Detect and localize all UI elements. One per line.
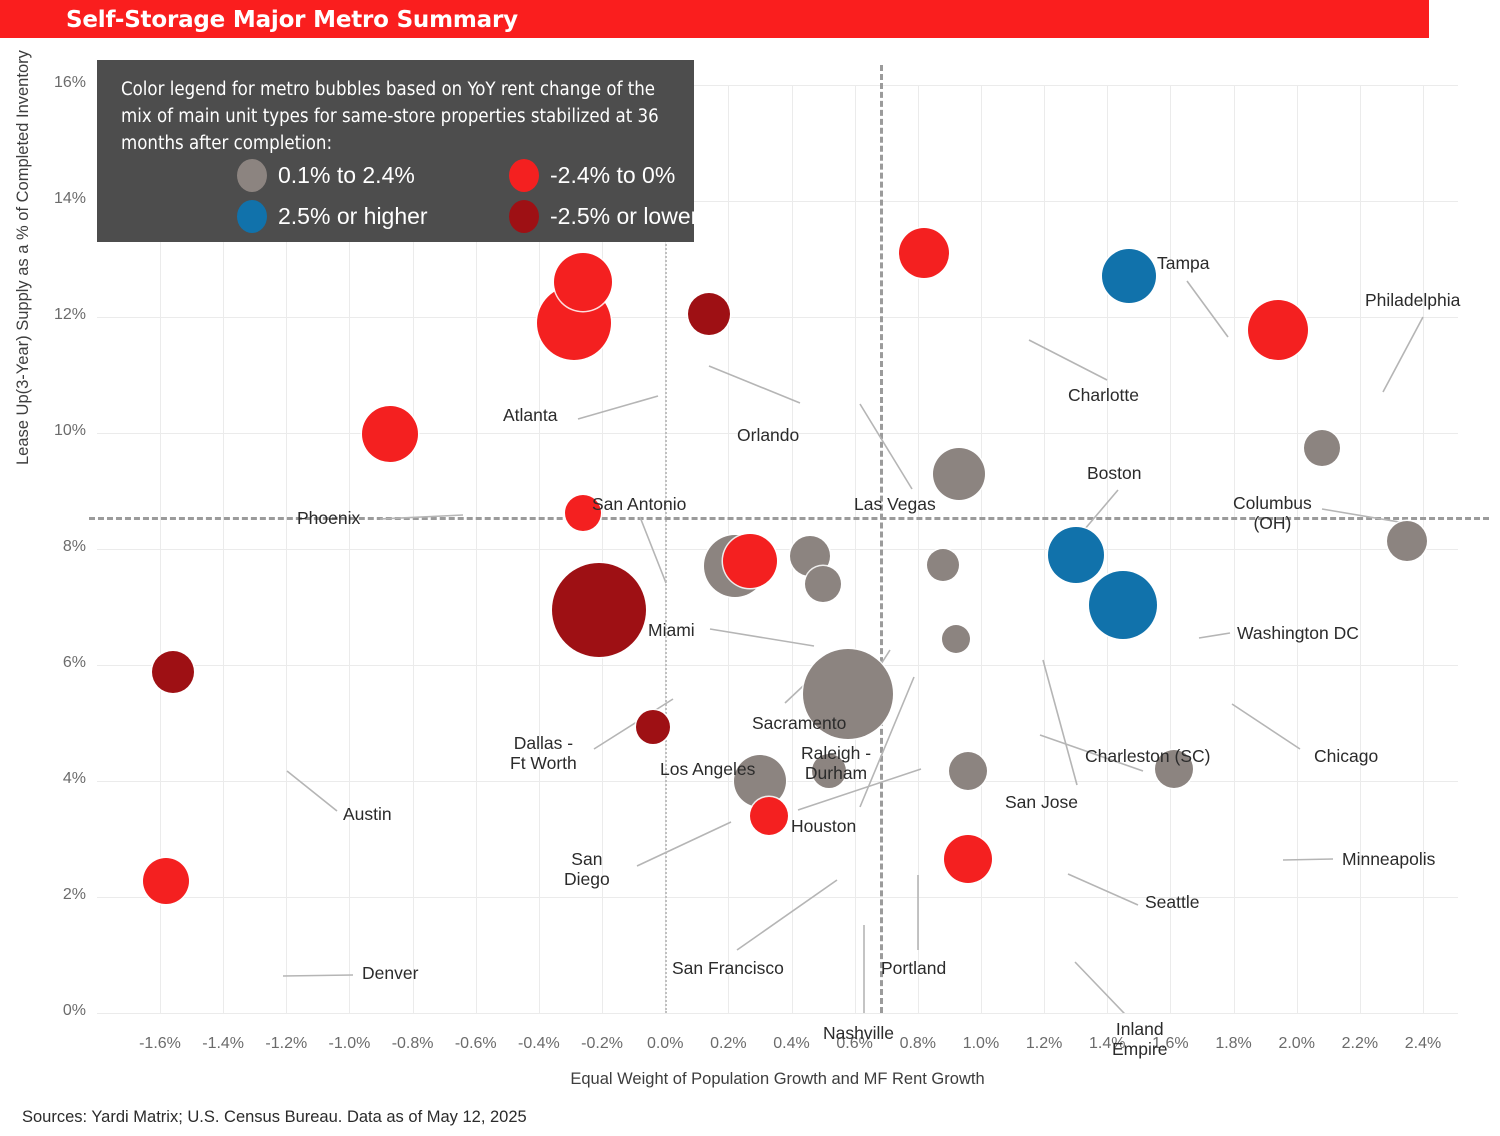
- y-axis-tick: 6%: [0, 654, 86, 672]
- legend-item-0: 0.1% to 2.4%: [237, 159, 415, 192]
- leader-line: [710, 629, 814, 646]
- leader-line: [1232, 704, 1300, 749]
- legend-item-2: 2.5% or higher: [237, 200, 428, 233]
- metro-bubble[interactable]: [805, 566, 841, 602]
- metro-label: Nashville: [823, 1023, 894, 1043]
- metro-bubble[interactable]: [362, 406, 418, 462]
- legend-swatch-grey: [237, 159, 267, 192]
- legend-label-0: 0.1% to 2.4%: [278, 162, 415, 189]
- metro-label: Atlanta: [503, 405, 557, 425]
- metro-label: Los Angeles: [660, 759, 755, 779]
- metro-label: Washington DC: [1237, 623, 1359, 643]
- leader-line: [709, 366, 800, 403]
- legend-description: Color legend for metro bubbles based on …: [121, 76, 681, 158]
- metro-label: Charlotte: [1068, 385, 1139, 405]
- x-axis-label: Equal Weight of Population Growth and MF…: [97, 1070, 1458, 1089]
- metro-bubble[interactable]: [636, 710, 670, 744]
- metro-bubble[interactable]: [1089, 571, 1157, 639]
- metro-label: Denver: [362, 963, 418, 983]
- metro-bubble[interactable]: [143, 858, 189, 904]
- metro-label: Orlando: [737, 425, 799, 445]
- leader-line: [283, 975, 353, 976]
- metro-label: Philadelphia: [1365, 290, 1460, 310]
- y-axis-tick: 2%: [0, 886, 86, 904]
- leader-line: [1029, 340, 1107, 380]
- metro-bubble[interactable]: [1387, 521, 1427, 561]
- metro-label: Seattle: [1145, 892, 1199, 912]
- metro-label: San Diego: [564, 849, 610, 890]
- legend-item-1: -2.4% to 0%: [509, 159, 675, 192]
- gridline-horizontal: [97, 549, 1458, 550]
- leader-line: [1043, 660, 1077, 785]
- metro-bubble[interactable]: [944, 835, 992, 883]
- metro-bubble[interactable]: [942, 625, 970, 653]
- y-axis-tick: 16%: [0, 74, 86, 92]
- leader-line: [860, 404, 912, 489]
- metro-label: Chicago: [1314, 746, 1378, 766]
- metro-label: Minneapolis: [1342, 849, 1435, 869]
- metro-label: Las Vegas: [854, 494, 936, 514]
- metro-label: Boston: [1087, 463, 1141, 483]
- gridline-horizontal: [97, 1013, 1458, 1014]
- page-title: Self-Storage Major Metro Summary: [66, 7, 518, 33]
- metro-label: Houston: [791, 816, 856, 836]
- y-axis-tick: 12%: [0, 306, 86, 324]
- metro-bubble[interactable]: [1248, 300, 1308, 360]
- leader-line: [637, 822, 731, 866]
- y-axis-tick: 0%: [0, 1002, 86, 1020]
- metro-label: Charleston (SC): [1085, 746, 1210, 766]
- metro-bubble[interactable]: [723, 534, 777, 588]
- metro-bubble[interactable]: [688, 293, 730, 335]
- legend-swatch-blue: [237, 200, 267, 233]
- metro-label: Miami: [648, 620, 695, 640]
- y-axis-label: Lease Up(3-Year) Supply as a % of Comple…: [14, 50, 33, 465]
- metro-label: Austin: [343, 804, 392, 824]
- metro-label: Portland: [881, 958, 946, 978]
- legend-item-3: -2.5% or lower: [509, 200, 698, 233]
- gridline-horizontal: [97, 897, 1458, 898]
- leader-line: [1187, 281, 1228, 337]
- metro-bubble[interactable]: [949, 752, 987, 790]
- title-bar: Self-Storage Major Metro Summary: [0, 0, 1429, 38]
- metro-label: San Jose: [1005, 792, 1078, 812]
- color-legend: Color legend for metro bubbles based on …: [97, 60, 694, 242]
- legend-label-2: 2.5% or higher: [278, 203, 428, 230]
- legend-label-3: -2.5% or lower: [550, 203, 698, 230]
- leader-line: [578, 396, 658, 419]
- metro-bubble[interactable]: [552, 563, 646, 657]
- metro-bubble[interactable]: [1048, 527, 1104, 583]
- metro-bubble[interactable]: [933, 448, 985, 500]
- metro-bubble[interactable]: [750, 797, 788, 835]
- legend-label-1: -2.4% to 0%: [550, 162, 675, 189]
- metro-label: Tampa: [1157, 253, 1210, 273]
- y-axis-tick: 4%: [0, 770, 86, 788]
- gridline-horizontal: [97, 665, 1458, 666]
- reference-line-vertical-dashed: [880, 65, 883, 1013]
- leader-line: [1283, 859, 1333, 860]
- metro-bubble[interactable]: [1102, 249, 1156, 303]
- legend-swatch-red: [509, 159, 539, 192]
- leader-line: [640, 517, 666, 583]
- leader-line: [287, 771, 337, 811]
- metro-label: Dallas - Ft Worth: [510, 733, 577, 774]
- metro-bubble[interactable]: [1304, 430, 1340, 466]
- metro-label: Inland Empire: [1112, 1019, 1167, 1060]
- metro-bubble[interactable]: [554, 253, 612, 311]
- leader-line: [1068, 874, 1138, 905]
- legend-swatch-darkred: [509, 200, 539, 233]
- metro-label: Columbus (OH): [1233, 493, 1312, 534]
- y-axis-tick: 14%: [0, 190, 86, 208]
- metro-bubble[interactable]: [927, 549, 959, 581]
- x-axis-tick: 2.4%: [1378, 1035, 1468, 1053]
- leader-line: [1383, 317, 1423, 392]
- source-note: Sources: Yardi Matrix; U.S. Census Burea…: [22, 1108, 527, 1127]
- y-axis-tick: 8%: [0, 538, 86, 556]
- metro-label: San Francisco: [672, 958, 784, 978]
- y-axis-tick: 10%: [0, 422, 86, 440]
- leader-line: [1075, 962, 1145, 1013]
- metro-label: Sacramento: [752, 713, 846, 733]
- metro-label: San Antonio: [592, 494, 686, 514]
- metro-label: Phoenix: [297, 508, 360, 528]
- metro-label: Raleigh - Durham: [801, 743, 871, 784]
- metro-bubble[interactable]: [152, 651, 194, 693]
- metro-bubble[interactable]: [899, 228, 949, 278]
- leader-line: [1199, 633, 1230, 638]
- leader-line: [737, 880, 837, 950]
